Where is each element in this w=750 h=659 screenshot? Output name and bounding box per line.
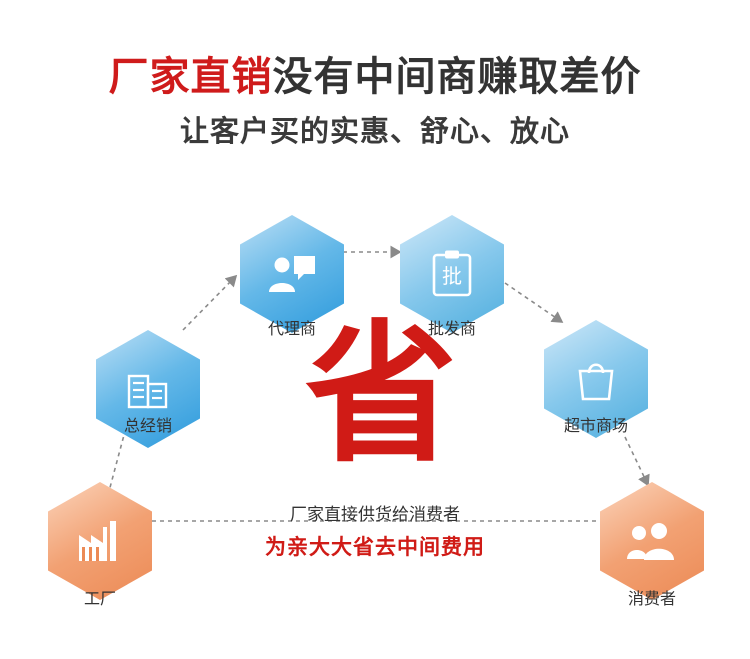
savings-label: 为亲大大省去中间费用 (0, 531, 750, 561)
direct-channel-label: 厂家直接供货给消费者 (0, 500, 750, 525)
promo-banner: 厂家直销没有中间商赚取差价 让客户买的实惠、舒心、放心 (0, 0, 750, 659)
shopping-bag-icon (572, 355, 620, 403)
node-consumer-label: 消费者 (562, 585, 742, 609)
node-factory-label: 工厂 (10, 585, 190, 609)
supply-chain-diagram: 总经销 代理商 批 批发商 (0, 0, 750, 659)
savings-stamp: 省 (305, 320, 455, 470)
svg-text:批: 批 (442, 264, 462, 288)
connector-supermarket-to-consumer (625, 437, 648, 485)
node-supermarket-label: 超市商场 (506, 412, 686, 436)
node-general-distributor-label: 总经销 (58, 412, 238, 436)
clipboard-approval-icon: 批 (429, 249, 475, 299)
person-chat-icon (266, 250, 318, 298)
building-icon (123, 364, 173, 414)
